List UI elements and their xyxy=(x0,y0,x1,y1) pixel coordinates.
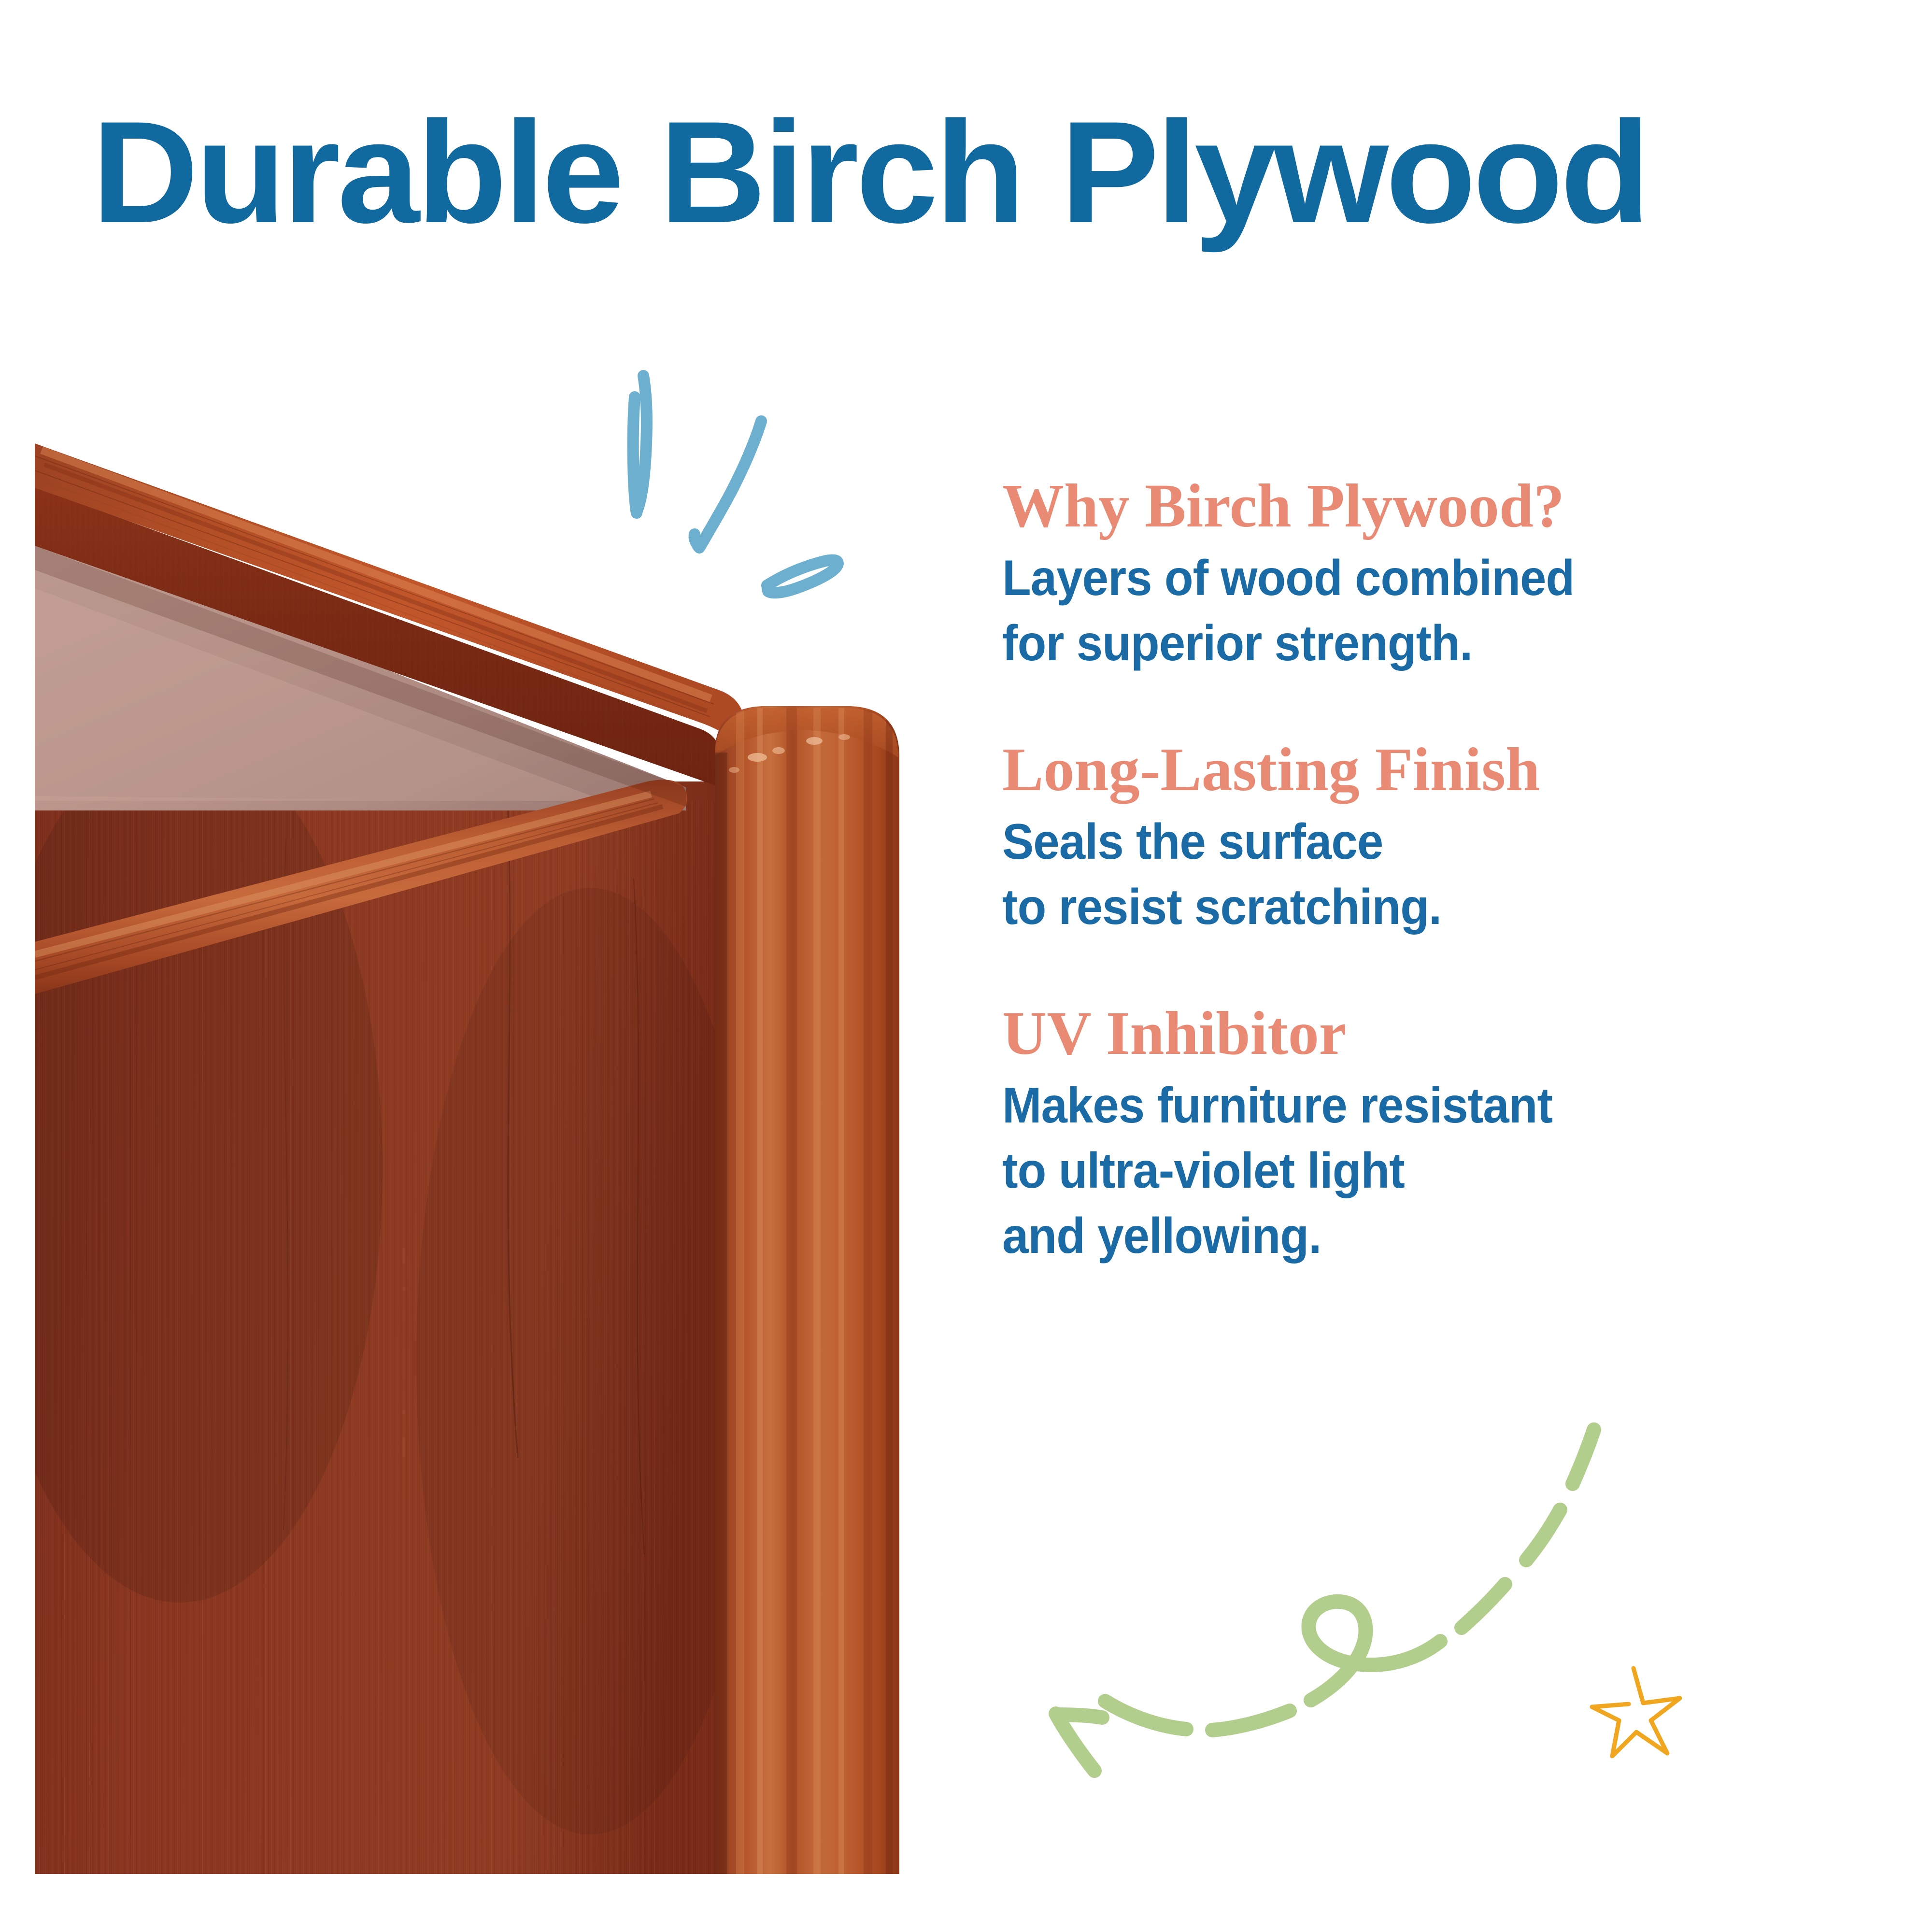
feature-list: Why Birch Plywood? Layers of wood combin… xyxy=(1002,473,1872,1269)
feature-body: Seals the surface to resist scratching. xyxy=(1002,810,1819,940)
arrow-dash-4 xyxy=(1212,1711,1290,1730)
feature-heading: Long-Lasting Finish xyxy=(1002,737,1872,803)
feature-block-long-lasting-finish: Long-Lasting Finish Seals the surface to… xyxy=(1002,737,1872,940)
feature-body-line: for superior strength. xyxy=(1002,611,1819,676)
infographic-canvas: Durable Birch Plywood xyxy=(0,0,1932,1932)
corner-post xyxy=(715,706,899,1874)
arrow-loop xyxy=(1308,1602,1440,1700)
feature-body: Layers of wood combined for superior str… xyxy=(1002,546,1819,676)
sparkle-stroke-left-b xyxy=(633,397,637,513)
cabinet-body-panel xyxy=(35,733,764,1874)
arrow-dash-3 xyxy=(1462,1584,1505,1628)
feature-body-line: and yellowing. xyxy=(1002,1204,1819,1269)
feature-heading: Why Birch Plywood? xyxy=(1002,473,1872,539)
feature-body-line: to resist scratching. xyxy=(1002,875,1819,940)
feature-body-line: Layers of wood combined xyxy=(1002,546,1819,611)
arrow-dash-1 xyxy=(1573,1430,1594,1484)
product-photo-bookcase-corner xyxy=(35,443,904,1874)
arrow-dash-5 xyxy=(1105,1701,1186,1729)
feature-body-line: Makes furniture resistant xyxy=(1002,1073,1819,1138)
sparkle-doodles xyxy=(599,367,869,599)
feature-block-why-birch-plywood: Why Birch Plywood? Layers of wood combin… xyxy=(1002,473,1872,676)
feature-heading: UV Inhibitor xyxy=(1002,1001,1872,1066)
sparkle-stroke-right xyxy=(767,560,838,593)
sparkle-stroke-middle-b xyxy=(695,534,698,547)
feature-body: Makes furniture resistant to ultra-viole… xyxy=(1002,1073,1819,1269)
star-outline xyxy=(1592,1668,1680,1756)
arrow-dash-2 xyxy=(1526,1510,1560,1560)
star-icon xyxy=(1589,1657,1700,1777)
feature-body-line: Seals the surface xyxy=(1002,810,1819,875)
green-curly-arrow xyxy=(1029,1415,1618,1782)
sparkle-stroke-middle xyxy=(699,421,761,548)
page-title: Durable Birch Plywood xyxy=(92,99,1648,244)
feature-body-line: to ultra-violet light xyxy=(1002,1138,1819,1204)
feature-block-uv-inhibitor: UV Inhibitor Makes furniture resistant t… xyxy=(1002,1001,1872,1269)
bookcase-corner-illustration xyxy=(35,443,904,1874)
